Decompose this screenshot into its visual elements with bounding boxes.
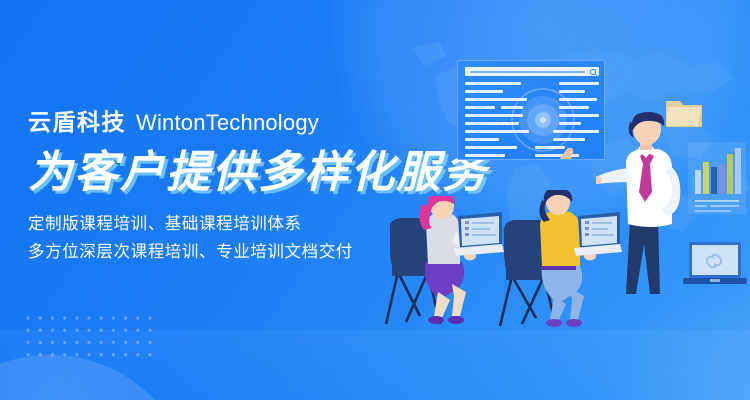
seated-man [494, 190, 622, 336]
dot-grid-pattern [22, 312, 158, 358]
seated-woman [380, 196, 506, 336]
bar-chart-card [688, 142, 746, 214]
browser-text-lines [465, 82, 599, 158]
headline: 为客户提供多样化服务 [28, 149, 498, 197]
browser-window-mockup [457, 60, 605, 160]
search-icon [590, 69, 596, 75]
brand-row: 云盾科技 WintonTechnology [28, 103, 498, 137]
brand-name-cn: 云盾科技 [28, 103, 126, 137]
brand-name-en: WintonTechnology [136, 110, 319, 136]
pointing-hand [556, 144, 578, 160]
laptop [574, 212, 622, 256]
browser-search-bar [465, 67, 599, 76]
promo-banner: 云盾科技 WintonTechnology 为客户提供多样化服务 定制版课程培训… [0, 0, 750, 400]
